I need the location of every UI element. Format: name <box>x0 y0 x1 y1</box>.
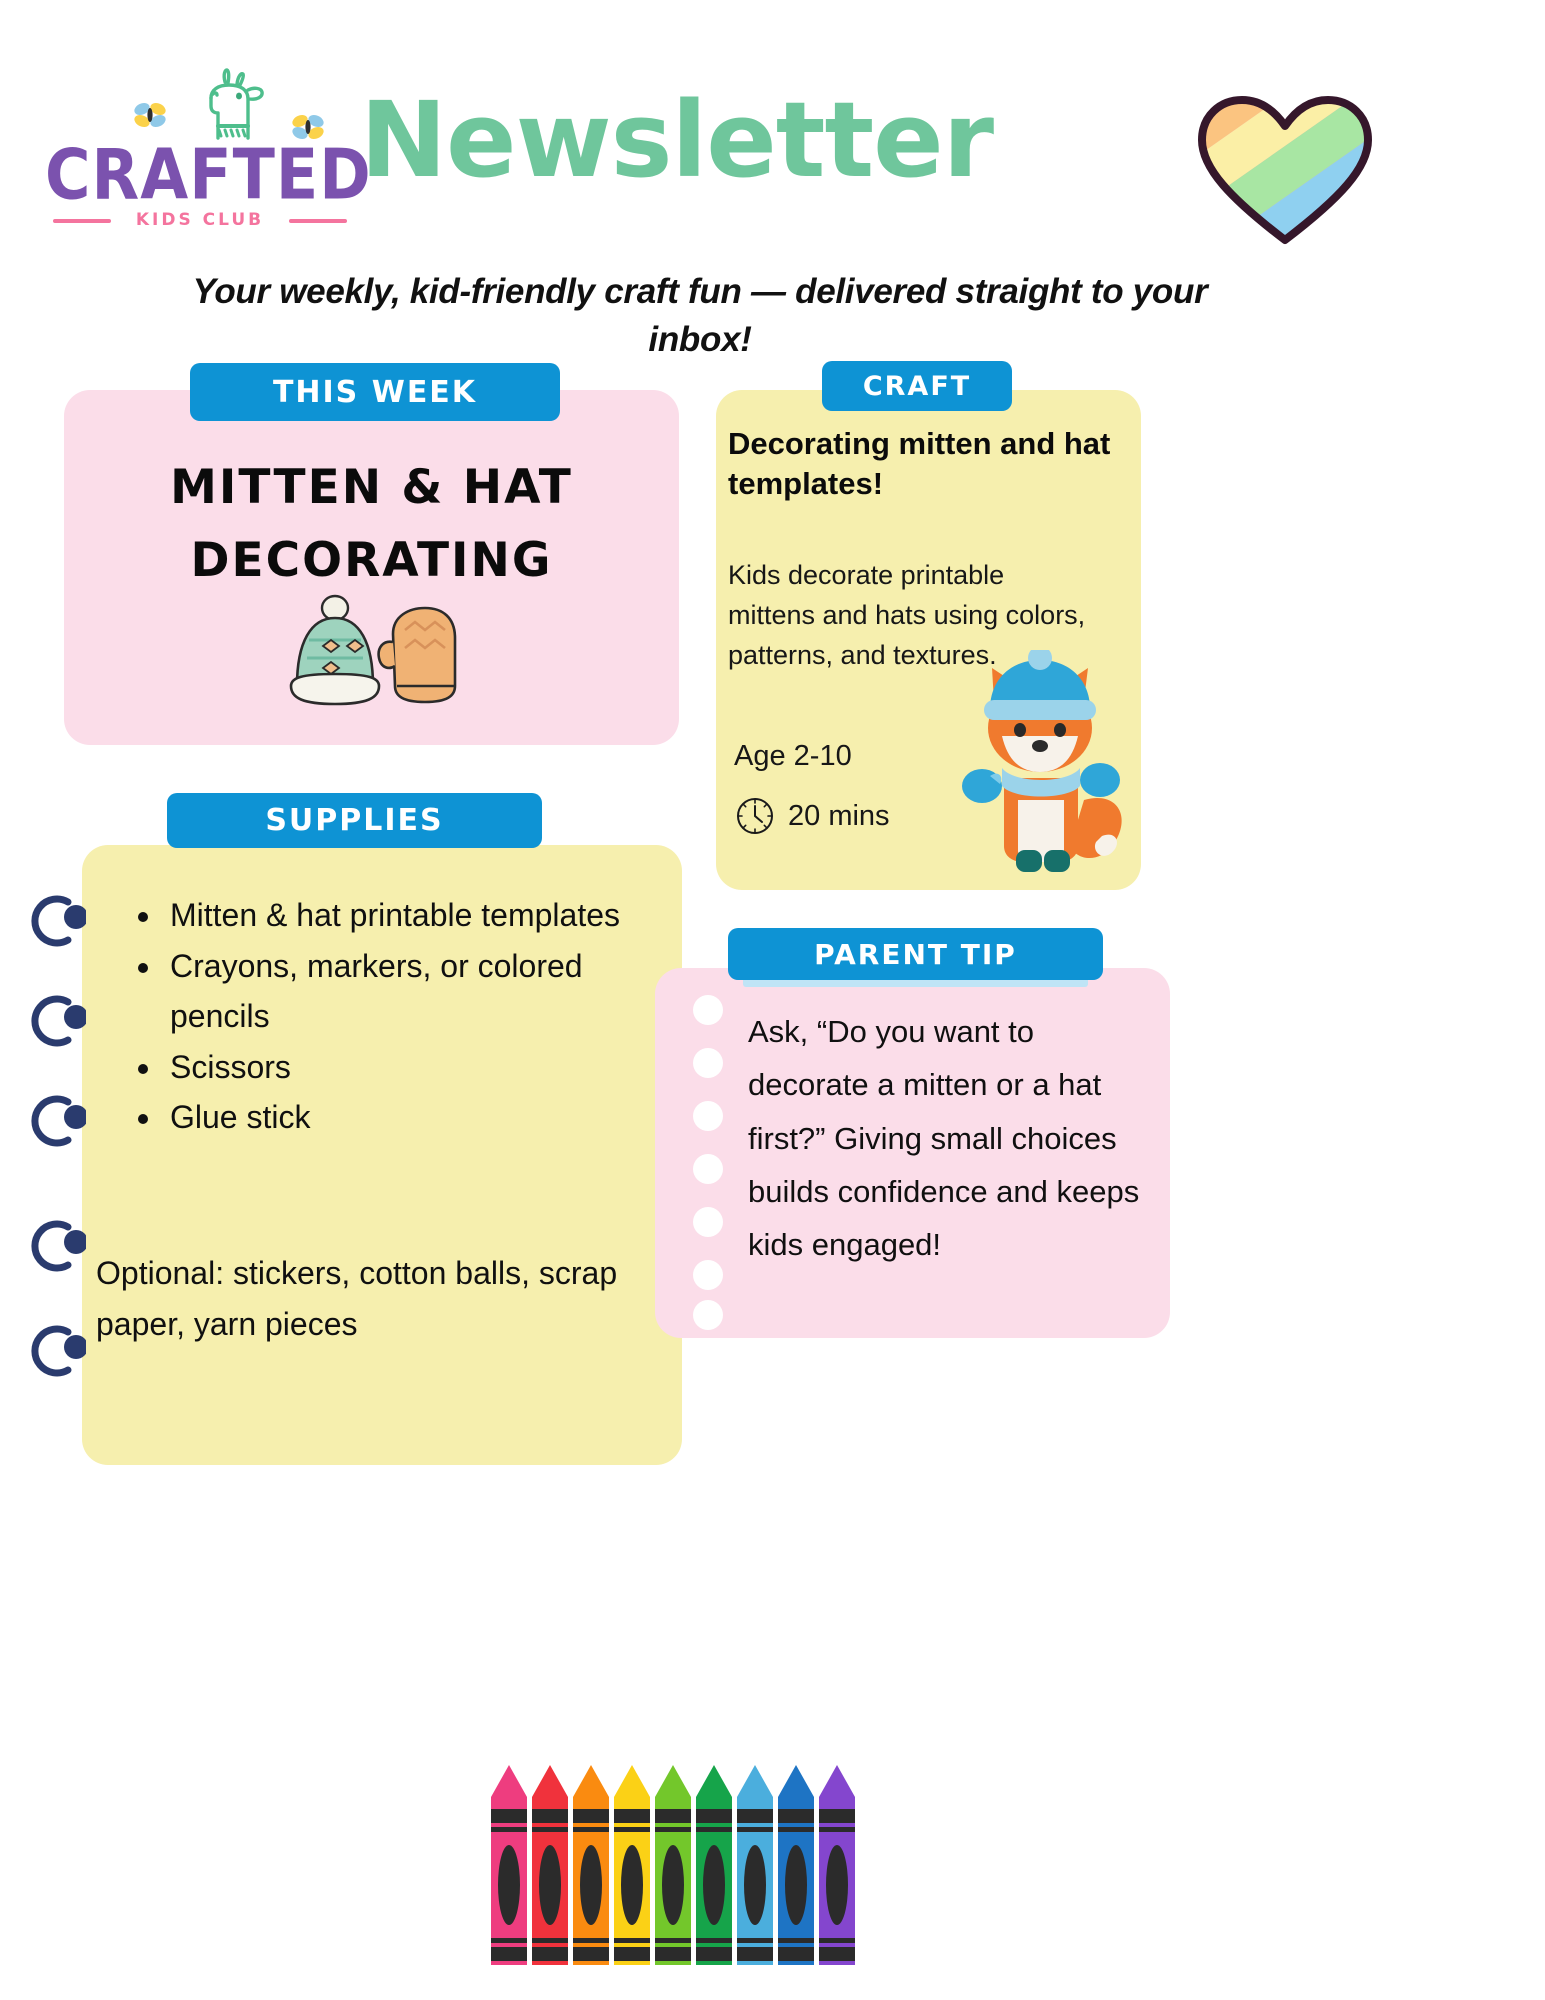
binder-ring-icon <box>24 1320 86 1382</box>
punch-hole-icon <box>693 1048 723 1078</box>
header: CRAFTED KIDS CLUB Newsletter Your we <box>0 40 1545 220</box>
binder-ring-icon <box>24 1090 86 1152</box>
supplies-list: Mitten & hat printable templates Crayons… <box>130 890 660 1143</box>
craft-age: Age 2-10 <box>734 740 852 773</box>
binder-ring-icon <box>24 1215 86 1277</box>
logo: CRAFTED KIDS CLUB <box>45 60 355 230</box>
craft-duration-label: 20 mins <box>788 800 890 833</box>
logo-subtitle: KIDS CLUB <box>45 210 355 230</box>
this-week-title-line1: MITTEN & HAT <box>64 452 679 525</box>
craft-badge: CRAFT <box>822 361 1012 411</box>
list-item: Crayons, markers, or colored pencils <box>164 941 660 1042</box>
list-item: Scissors <box>164 1042 660 1093</box>
craft-duration-row: 20 mins <box>734 795 890 837</box>
binder-ring-icon <box>24 890 86 952</box>
hat-and-mitten-icon <box>275 590 475 735</box>
rainbow-heart-icon <box>1190 88 1380 248</box>
punch-hole-icon <box>693 1260 723 1290</box>
parent-tip-badge: PARENT TIP <box>728 928 1103 980</box>
punch-hole-icon <box>693 1300 723 1330</box>
punch-hole-icon <box>693 1101 723 1131</box>
binder-ring-icon <box>24 990 86 1052</box>
parent-tip-text: Ask, “Do you want to decorate a mitten o… <box>748 1005 1148 1272</box>
punch-hole-icon <box>693 995 723 1025</box>
list-item: Glue stick <box>164 1092 660 1143</box>
winter-fox-icon <box>952 650 1137 885</box>
crayons-icon <box>487 1735 887 1985</box>
punch-hole-icon <box>693 1154 723 1184</box>
craft-heading: Decorating mitten and hat templates! <box>728 424 1138 505</box>
logo-wordmark: CRAFTED <box>45 134 355 216</box>
page-title: Newsletter <box>360 88 960 192</box>
butterfly-icon <box>133 100 167 130</box>
tagline: Your weekly, kid-friendly craft fun — de… <box>180 268 1220 365</box>
supplies-optional: Optional: stickers, cotton balls, scrap … <box>96 1248 671 1350</box>
this-week-title: MITTEN & HAT DECORATING <box>64 452 679 598</box>
clock-icon <box>734 795 776 837</box>
punch-hole-icon <box>693 1207 723 1237</box>
this-week-title-line2: DECORATING <box>64 525 679 598</box>
newsletter-page: CRAFTED KIDS CLUB Newsletter Your we <box>0 0 1545 2000</box>
this-week-badge: THIS WEEK <box>190 363 560 421</box>
supplies-badge: SUPPLIES <box>167 793 542 848</box>
list-item: Mitten & hat printable templates <box>164 890 660 941</box>
